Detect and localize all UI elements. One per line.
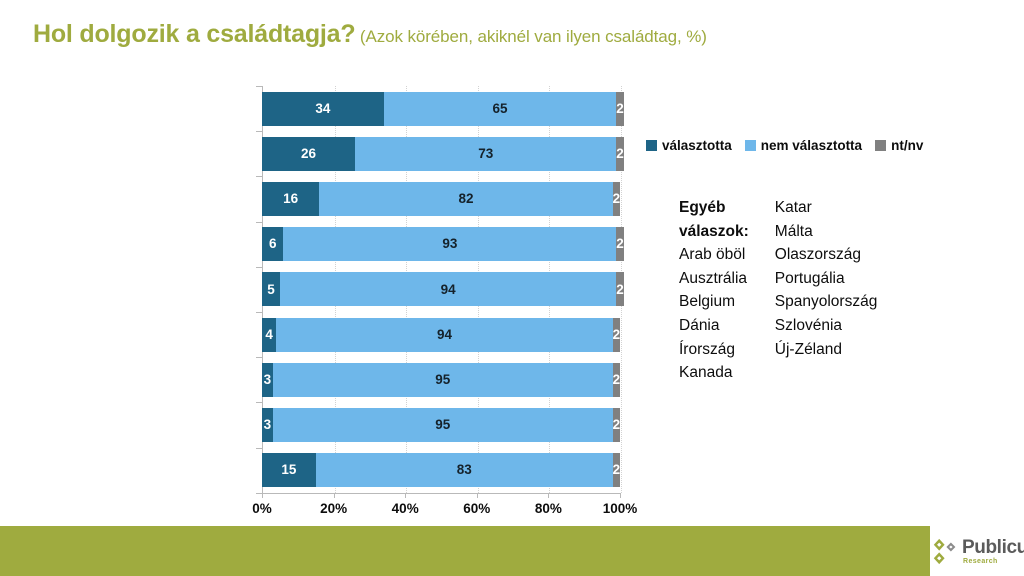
bar-value-label: 2 — [616, 237, 623, 251]
logo-tagline-text: Research — [963, 558, 998, 565]
title-main-text: Hol dolgozik a családtagja? — [33, 20, 355, 48]
other-answers-item: Olaszország — [775, 243, 878, 267]
x-axis-tick-label: 80% — [535, 501, 562, 516]
bar-value-label: 93 — [442, 237, 457, 251]
logo-name-text: Publicus — [962, 538, 1024, 557]
stacked-bar-chart: Németország34652Ausztria26732Nagy-Britan… — [0, 80, 660, 510]
y-axis-tick — [256, 493, 262, 494]
bar-row[interactable]: 5942 — [262, 272, 620, 306]
bar-value-label: 16 — [283, 192, 298, 206]
bar-segment[interactable]: 2 — [613, 363, 620, 397]
y-axis-tick — [256, 448, 262, 449]
bar-row[interactable]: 3952 — [262, 408, 620, 442]
publicus-logo: Publicus Research — [930, 526, 1024, 576]
x-axis-tick — [620, 493, 621, 498]
bar-segment[interactable]: 34 — [262, 92, 384, 126]
other-answers-heading: válaszok: — [679, 220, 749, 244]
bar-value-label: 15 — [281, 463, 296, 477]
other-answers-heading: Egyéb — [679, 196, 749, 220]
bar-segment[interactable]: 93 — [283, 227, 616, 261]
bar-segment[interactable]: 2 — [616, 272, 623, 306]
bar-value-label: 83 — [457, 463, 472, 477]
bar-value-label: 4 — [265, 328, 273, 342]
bar-segment[interactable]: 73 — [355, 137, 616, 171]
bar-value-label: 82 — [459, 192, 474, 206]
chart-legend: választottanem választottant/nv — [646, 139, 923, 153]
y-axis-tick — [256, 402, 262, 403]
bar-segment[interactable]: 5 — [262, 272, 280, 306]
bar-segment[interactable]: 6 — [262, 227, 283, 261]
bar-value-label: 2 — [613, 418, 620, 432]
x-axis-tick-label: 100% — [603, 501, 638, 516]
bar-value-label: 2 — [613, 373, 620, 387]
y-axis-tick — [256, 357, 262, 358]
legend-swatch-icon — [646, 140, 657, 151]
bar-row[interactable]: 15832 — [262, 453, 620, 487]
other-answers-item: Arab öböl — [679, 243, 749, 267]
bar-segment[interactable]: 4 — [262, 318, 276, 352]
bar-row[interactable]: 3952 — [262, 363, 620, 397]
bar-value-label: 95 — [435, 418, 450, 432]
bar-row[interactable]: 6932 — [262, 227, 620, 261]
other-answers-note: Egyébválaszok:Arab öbölAusztráliaBelgium… — [679, 196, 877, 385]
y-axis-tick — [256, 86, 262, 87]
y-axis-tick — [256, 176, 262, 177]
bar-value-label: 2 — [613, 192, 620, 206]
bar-value-label: 3 — [264, 418, 272, 432]
bar-segment[interactable]: 82 — [319, 182, 613, 216]
bar-value-label: 6 — [269, 237, 277, 251]
bar-segment[interactable]: 2 — [613, 182, 620, 216]
bar-row[interactable]: 16822 — [262, 182, 620, 216]
other-answers-item: Katar — [775, 196, 878, 220]
bar-segment[interactable]: 2 — [616, 227, 623, 261]
bar-segment[interactable]: 26 — [262, 137, 355, 171]
legend-item[interactable]: választotta — [646, 139, 732, 153]
bar-value-label: 2 — [616, 147, 623, 161]
y-axis-tick — [256, 312, 262, 313]
bar-segment[interactable]: 94 — [276, 318, 613, 352]
bar-value-label: 5 — [267, 283, 275, 297]
legend-swatch-icon — [745, 140, 756, 151]
x-axis-tick — [405, 493, 406, 498]
legend-label: nt/nv — [891, 139, 923, 153]
other-answers-item: Portugália — [775, 267, 878, 291]
bar-segment[interactable]: 95 — [273, 363, 613, 397]
bar-value-label: 65 — [493, 102, 508, 116]
x-axis-tick-label: 0% — [252, 501, 272, 516]
other-answers-item: Kanada — [679, 361, 749, 385]
x-axis-line — [262, 493, 620, 494]
other-answers-item: Dánia — [679, 314, 749, 338]
bar-segment[interactable]: 65 — [384, 92, 617, 126]
bar-segment[interactable]: 2 — [616, 92, 623, 126]
x-axis-tick-label: 60% — [463, 501, 490, 516]
x-axis-tick-label: 40% — [392, 501, 419, 516]
bar-segment[interactable]: 3 — [262, 363, 273, 397]
y-axis-tick — [256, 222, 262, 223]
title-subtitle-text: (Azok körében, akiknél van ilyen családt… — [360, 27, 707, 46]
bar-segment[interactable]: 95 — [273, 408, 613, 442]
bar-segment[interactable]: 2 — [613, 453, 620, 487]
footer-bar — [0, 526, 930, 576]
bar-segment[interactable]: 2 — [616, 137, 623, 171]
other-answers-column-right: KatarMáltaOlaszországPortugáliaSpanyolor… — [775, 196, 878, 385]
bar-value-label: 2 — [616, 102, 623, 116]
bar-row[interactable]: 34652 — [262, 92, 620, 126]
publicus-logo-wordmark: Publicus Research — [962, 538, 1024, 565]
other-answers-column-left: Egyébválaszok:Arab öbölAusztráliaBelgium… — [679, 196, 749, 385]
other-answers-item: Ausztrália — [679, 267, 749, 291]
bar-segment[interactable]: 16 — [262, 182, 319, 216]
other-answers-item: Új-Zéland — [775, 338, 878, 362]
bar-value-label: 26 — [301, 147, 316, 161]
bar-segment[interactable]: 15 — [262, 453, 316, 487]
x-axis-tick — [262, 493, 263, 498]
legend-label: nem választotta — [761, 139, 862, 153]
x-axis-tick — [334, 493, 335, 498]
other-answers-item: Írország — [679, 338, 749, 362]
other-answers-item: Málta — [775, 220, 878, 244]
legend-item[interactable]: nt/nv — [875, 139, 923, 153]
bar-value-label: 3 — [264, 373, 272, 387]
bar-segment[interactable]: 94 — [280, 272, 617, 306]
y-axis-tick — [256, 131, 262, 132]
other-answers-item: Szlovénia — [775, 314, 878, 338]
y-axis-tick — [256, 267, 262, 268]
legend-label: választotta — [662, 139, 732, 153]
bar-value-label: 2 — [613, 463, 620, 477]
bar-segment[interactable]: 3 — [262, 408, 273, 442]
page-title: Hol dolgozik a családtagja? (Azok körébe… — [33, 20, 993, 49]
bar-segment[interactable]: 2 — [613, 318, 620, 352]
x-axis-tick — [477, 493, 478, 498]
bar-value-label: 95 — [435, 373, 450, 387]
legend-item[interactable]: nem választotta — [745, 139, 862, 153]
bar-value-label: 2 — [616, 283, 623, 297]
bar-value-label: 34 — [315, 102, 330, 116]
bar-row[interactable]: 26732 — [262, 137, 620, 171]
publicus-diamond-logo-icon — [932, 538, 959, 565]
bar-segment[interactable]: 2 — [613, 408, 620, 442]
other-answers-item: Spanyolország — [775, 290, 878, 314]
bar-value-label: 2 — [613, 328, 620, 342]
x-axis-tick — [548, 493, 549, 498]
bar-segment[interactable]: 83 — [316, 453, 613, 487]
bar-value-label: 94 — [441, 283, 456, 297]
other-answers-item: Belgium — [679, 290, 749, 314]
bar-row[interactable]: 4942 — [262, 318, 620, 352]
legend-swatch-icon — [875, 140, 886, 151]
bar-value-label: 73 — [478, 147, 493, 161]
x-axis-tick-label: 20% — [320, 501, 347, 516]
bar-value-label: 94 — [437, 328, 452, 342]
